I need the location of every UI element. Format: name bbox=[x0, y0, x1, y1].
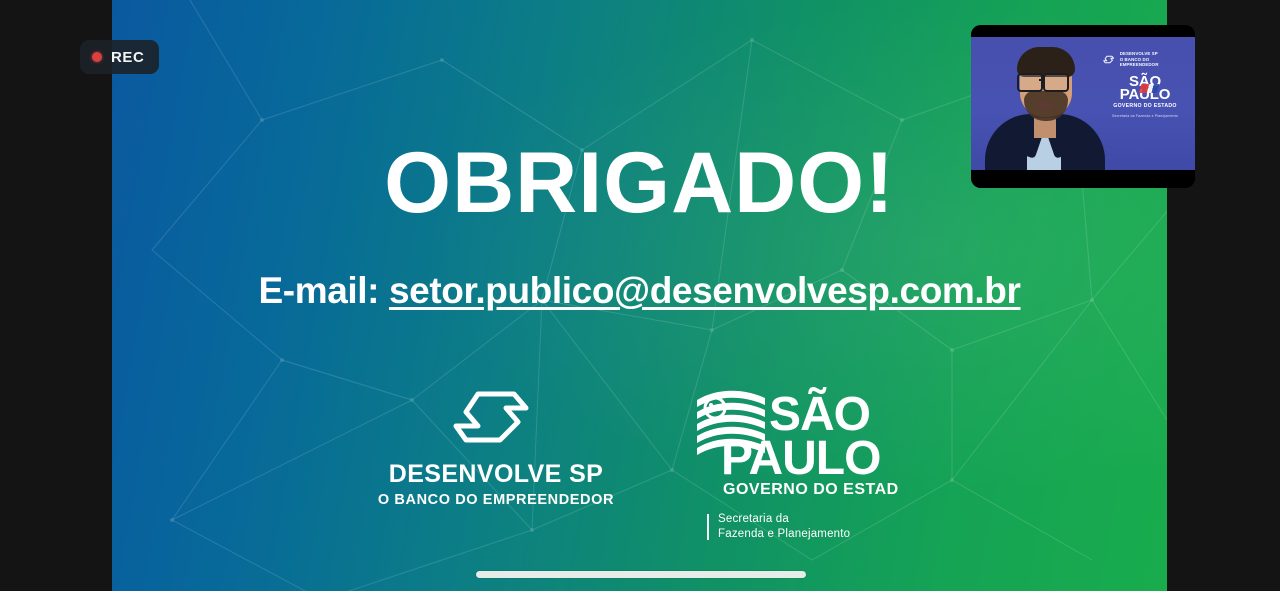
svg-text:PAULO: PAULO bbox=[721, 432, 880, 485]
presenter-glasses-bridge bbox=[1039, 79, 1045, 81]
secretaria-divider bbox=[707, 514, 709, 540]
vb-desenvolve-sp-mark-icon bbox=[1102, 55, 1117, 64]
desenvolve-sp-name: DESENVOLVE SP bbox=[389, 460, 604, 489]
email-prefix-label: E-mail: bbox=[259, 270, 389, 311]
secretaria-line-1: Secretaria da bbox=[718, 512, 850, 527]
vb-desenvolve-sp-text: DESENVOLVE SP O BANCO DO EMPREENDEDOR bbox=[1120, 51, 1188, 68]
desenvolve-sp-mark-icon bbox=[444, 386, 548, 448]
virtual-background-branding: DESENVOLVE SP O BANCO DO EMPREENDEDOR SÃ… bbox=[1102, 51, 1188, 118]
record-dot-icon bbox=[92, 52, 102, 62]
slide-logo-row: DESENVOLVE SP O BANCO DO EMPREENDEDOR bbox=[112, 378, 1167, 541]
logo-governo-sao-paulo: SÃO PAULO GOVERNO DO ESTADO Secretaria d… bbox=[693, 378, 908, 541]
desenvolve-sp-tagline: O BANCO DO EMPREENDEDOR bbox=[378, 492, 614, 508]
recording-label: REC bbox=[111, 49, 144, 66]
vb-secretaria-text: Secretaria da Fazenda e Planejamento bbox=[1102, 114, 1188, 118]
screen-root: OBRIGADO! E-mail: setor.publico@desenvol… bbox=[0, 0, 1280, 591]
presenter-video-panel[interactable]: DESENVOLVE SP O BANCO DO EMPREENDEDOR SÃ… bbox=[971, 25, 1195, 188]
svg-text:GOVERNO DO ESTADO: GOVERNO DO ESTADO bbox=[723, 481, 898, 498]
secretaria-block: Secretaria da Fazenda e Planejamento bbox=[707, 512, 850, 541]
logo-desenvolve-sp: DESENVOLVE SP O BANCO DO EMPREENDEDOR bbox=[371, 378, 621, 508]
vb-dsp-tagline: O BANCO DO EMPREENDEDOR bbox=[1120, 57, 1188, 68]
video-feed: DESENVOLVE SP O BANCO DO EMPREENDEDOR SÃ… bbox=[971, 25, 1195, 188]
email-address-link[interactable]: setor.publico@desenvolvesp.com.br bbox=[389, 270, 1021, 311]
video-frame-content: DESENVOLVE SP O BANCO DO EMPREENDEDOR SÃ… bbox=[971, 37, 1195, 170]
recording-indicator-badge[interactable]: REC bbox=[80, 40, 159, 74]
presenter-neck bbox=[1034, 118, 1056, 138]
vb-desenvolve-sp-logo: DESENVOLVE SP O BANCO DO EMPREENDEDOR bbox=[1102, 51, 1188, 68]
secretaria-line-2: Fazenda e Planejamento bbox=[718, 527, 850, 542]
presenter-glasses-left-lens bbox=[1017, 73, 1043, 92]
slide-email-line: E-mail: setor.publico@desenvolvesp.com.b… bbox=[112, 272, 1167, 309]
presenter-mouth bbox=[1037, 101, 1054, 110]
vb-flag-accent-icon bbox=[1139, 84, 1160, 93]
secretaria-text: Secretaria da Fazenda e Planejamento bbox=[718, 512, 850, 541]
vb-sp-tagline: GOVERNO DO ESTADO bbox=[1102, 103, 1188, 109]
sao-paulo-flag-mark-icon: SÃO PAULO GOVERNO DO ESTADO bbox=[693, 378, 898, 498]
presenter-glasses-right-lens bbox=[1043, 73, 1069, 92]
slide-progress-bar[interactable] bbox=[476, 571, 806, 578]
